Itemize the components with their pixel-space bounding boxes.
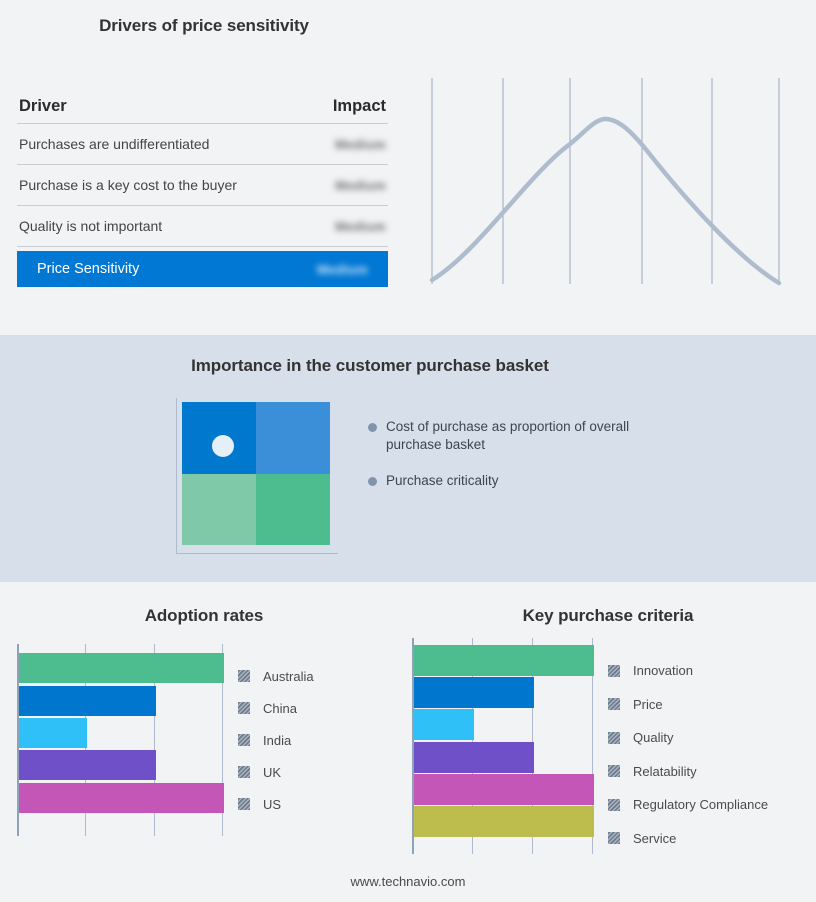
legend-item: Quality bbox=[608, 721, 768, 755]
lifecycle-chart bbox=[408, 0, 816, 335]
price-sensitivity-summary-row: Price Sensitivity Medium bbox=[17, 251, 388, 287]
hatch-swatch-icon bbox=[608, 799, 620, 811]
criteria-legend: InnovationPriceQualityRelatabilityRegula… bbox=[608, 654, 768, 855]
bar bbox=[414, 677, 534, 708]
table-row: Purchases are undifferentiated Medium bbox=[17, 124, 388, 165]
legend-label: US bbox=[263, 797, 281, 812]
hatch-swatch-icon bbox=[608, 732, 620, 744]
bar bbox=[19, 718, 87, 748]
quadrant-top-right bbox=[256, 402, 330, 474]
legend-label: Price bbox=[633, 697, 663, 712]
legend-label: Regulatory Compliance bbox=[633, 797, 768, 812]
bullet-icon bbox=[368, 423, 377, 432]
key-purchase-criteria-chart: InnovationPriceQualityRelatabilityRegula… bbox=[400, 582, 816, 902]
legend-item: Relatability bbox=[608, 755, 768, 789]
legend-label: India bbox=[263, 733, 291, 748]
driver-label: Purchases are undifferentiated bbox=[19, 136, 209, 152]
legend-item: US bbox=[238, 788, 314, 820]
hatch-swatch-icon bbox=[238, 702, 250, 714]
bar bbox=[19, 783, 224, 813]
bar bbox=[19, 653, 224, 683]
impact-value: Medium bbox=[335, 137, 386, 152]
quadrant-bottom-right bbox=[256, 474, 330, 546]
matrix-legend: Cost of purchase as proportion of overal… bbox=[368, 418, 668, 508]
legend-item: UK bbox=[238, 756, 314, 788]
purchase-basket-matrix bbox=[182, 402, 332, 547]
matrix-quadrant-grid bbox=[182, 402, 330, 545]
matrix-position-marker bbox=[212, 435, 234, 457]
adoption-plot-area bbox=[17, 644, 222, 836]
hatch-swatch-icon bbox=[608, 698, 620, 710]
legend-item: China bbox=[238, 692, 314, 724]
column-header-driver: Driver bbox=[19, 97, 67, 116]
bar bbox=[19, 750, 156, 780]
footer-url: www.technavio.com bbox=[0, 874, 816, 889]
bar bbox=[414, 806, 594, 837]
drivers-panel: Drivers of price sensitivity Driver Impa… bbox=[0, 0, 408, 335]
legend-label: Cost of purchase as proportion of overal… bbox=[386, 418, 668, 454]
legend-item: Purchase criticality bbox=[368, 472, 668, 490]
legend-label: Purchase criticality bbox=[386, 472, 499, 490]
legend-item: India bbox=[238, 724, 314, 756]
adoption-rates-chart: AustraliaChinaIndiaUKUS bbox=[0, 582, 408, 902]
driver-label: Quality is not important bbox=[19, 218, 162, 234]
lifecycle-gridlines bbox=[432, 78, 779, 284]
summary-label: Price Sensitivity bbox=[37, 261, 139, 277]
legend-label: Australia bbox=[263, 669, 314, 684]
hatch-swatch-icon bbox=[238, 734, 250, 746]
drivers-panel-title: Drivers of price sensitivity bbox=[0, 16, 408, 36]
impact-value: Medium bbox=[335, 178, 386, 193]
drivers-table: Driver Impact Purchases are undifferenti… bbox=[17, 90, 388, 287]
hatch-swatch-icon bbox=[608, 832, 620, 844]
hatch-swatch-icon bbox=[238, 670, 250, 682]
bar bbox=[414, 774, 594, 805]
legend-item: Australia bbox=[238, 660, 314, 692]
bar bbox=[414, 645, 594, 676]
hatch-swatch-icon bbox=[608, 765, 620, 777]
hatch-swatch-icon bbox=[238, 766, 250, 778]
bar bbox=[414, 742, 534, 773]
legend-item: Cost of purchase as proportion of overal… bbox=[368, 418, 668, 454]
bar bbox=[19, 686, 156, 716]
hatch-swatch-icon bbox=[238, 798, 250, 810]
driver-label: Purchase is a key cost to the buyer bbox=[19, 177, 237, 193]
table-row: Purchase is a key cost to the buyer Medi… bbox=[17, 165, 388, 206]
legend-item: Price bbox=[608, 688, 768, 722]
matrix-panel-title: Importance in the customer purchase bask… bbox=[0, 356, 740, 376]
bar bbox=[414, 709, 474, 740]
legend-label: Quality bbox=[633, 730, 673, 745]
legend-label: Service bbox=[633, 831, 676, 846]
lifecycle-panel: Adoption lifecycle Innovators EarlyAdopt… bbox=[408, 0, 816, 335]
summary-impact-value: Medium bbox=[317, 262, 368, 277]
adoption-bell-curve bbox=[432, 119, 779, 283]
legend-label: Relatability bbox=[633, 764, 697, 779]
adoption-rates-legend: AustraliaChinaIndiaUKUS bbox=[238, 660, 314, 820]
legend-item: Innovation bbox=[608, 654, 768, 688]
matrix-vertical-axis bbox=[176, 398, 177, 553]
matrix-horizontal-axis bbox=[176, 553, 338, 554]
bullet-icon bbox=[368, 477, 377, 486]
table-header-row: Driver Impact bbox=[17, 90, 388, 124]
legend-item: Regulatory Compliance bbox=[608, 788, 768, 822]
hatch-swatch-icon bbox=[608, 665, 620, 677]
legend-label: Innovation bbox=[633, 663, 693, 678]
legend-label: China bbox=[263, 701, 297, 716]
legend-item: Service bbox=[608, 822, 768, 856]
column-header-impact: Impact bbox=[333, 97, 386, 116]
quadrant-bottom-left bbox=[182, 474, 256, 546]
table-row: Quality is not important Medium bbox=[17, 206, 388, 247]
criteria-plot-area bbox=[412, 638, 592, 854]
impact-value: Medium bbox=[335, 219, 386, 234]
legend-label: UK bbox=[263, 765, 281, 780]
